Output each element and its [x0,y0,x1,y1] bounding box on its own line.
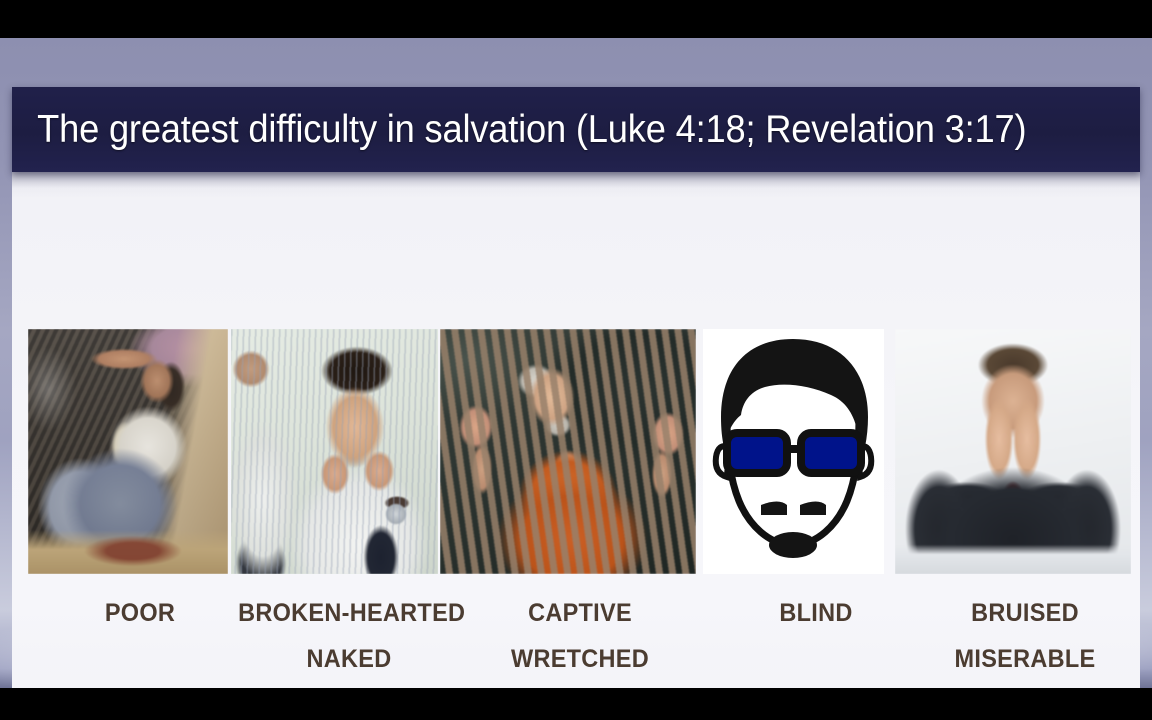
image-row [12,329,1140,574]
letterbox-bottom [0,688,1152,720]
label-blind-line1: BLIND [710,590,922,636]
slide-title-bar: The greatest difficulty in salvation (Lu… [12,87,1140,172]
image-captive-content [440,329,696,574]
label-poor-line1: POOR [46,590,234,636]
slide-frame: The greatest difficulty in salvation (Lu… [0,38,1152,688]
label-blind: BLIND [710,590,922,636]
label-bruised-line1: BRUISED [914,590,1136,636]
label-captive-line2: WRETCHED [460,636,701,682]
label-bruised-line2: MISERABLE [914,636,1136,682]
label-captive-line1: CAPTIVE [460,590,701,636]
image-broken-hearted [231,329,438,574]
image-captive [440,329,696,574]
label-broken-hearted-line1: BROKEN-HEARTED [238,590,460,636]
label-broken-hearted: BROKEN-HEARTED NAKED [238,590,460,682]
letterbox-top [0,0,1152,38]
label-poor: POOR [46,590,234,636]
image-bruised-content [895,329,1131,574]
slide-viewer: The greatest difficulty in salvation (Lu… [0,0,1152,720]
label-broken-hearted-line2: NAKED [238,636,460,682]
image-poor-content [28,329,228,574]
blind-face-icon [703,329,884,574]
image-blind [703,329,884,574]
image-poor [28,329,228,574]
label-captive: CAPTIVE WRETCHED [460,590,701,682]
label-bruised: BRUISED MISERABLE [914,590,1136,682]
slide-title: The greatest difficulty in salvation (Lu… [12,108,1026,152]
image-bruised [895,329,1131,574]
slide-content-panel: POOR BROKEN-HEARTED NAKED CAPTIVE WRETCH… [12,172,1140,688]
image-broken-hearted-content [231,329,438,574]
